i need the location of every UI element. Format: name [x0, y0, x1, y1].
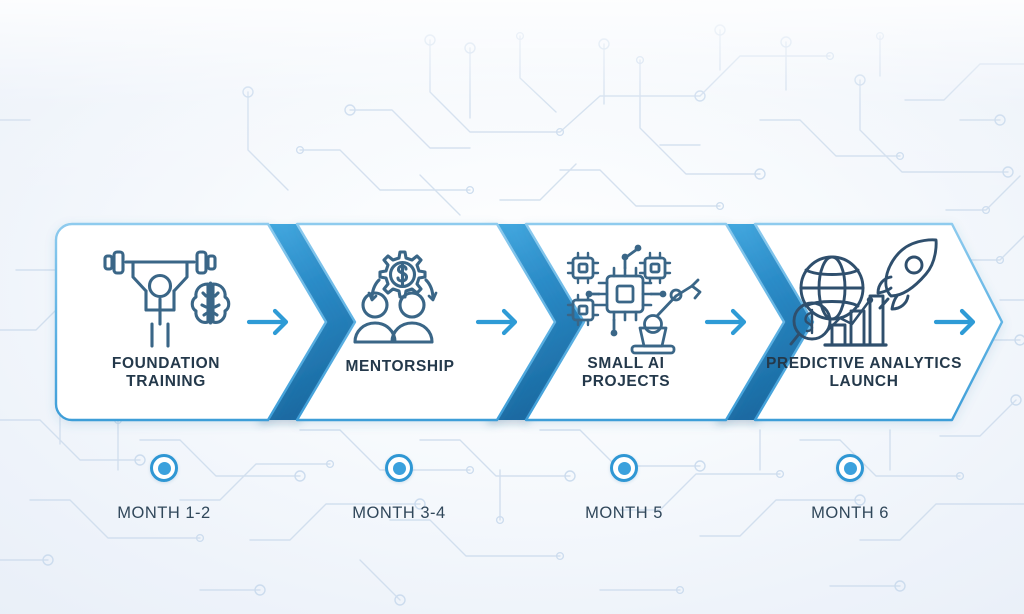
timeline-dot-core	[618, 462, 631, 475]
step-card-3-title: SMALL AI PROJECTS	[538, 355, 714, 392]
month-label-4: MONTH 6	[811, 504, 889, 523]
timeline-dot-core	[158, 462, 171, 475]
weightlifter-brain-icon	[105, 252, 229, 346]
forward-arrow-icon	[478, 311, 515, 333]
microchip-robot-arm-icon	[568, 245, 700, 353]
timeline-dot-core	[844, 462, 857, 475]
step-card-2[interactable]	[297, 224, 555, 420]
month-label-1: MONTH 1-2	[117, 504, 210, 523]
step-card-1-title: FOUNDATION TRAINING	[78, 355, 254, 392]
timeline-dot-3[interactable]	[610, 454, 638, 482]
step-card-4-title: PREDICTIVE ANALYTICS LAUNCH	[760, 355, 968, 392]
forward-arrow-icon	[249, 311, 286, 333]
gear-people-icon	[355, 252, 436, 342]
forward-arrow-icon	[707, 311, 744, 333]
month-label-3: MONTH 5	[585, 504, 663, 523]
chevron-connector-group	[254, 224, 812, 420]
timeline-dot-4[interactable]	[836, 454, 864, 482]
timeline-dot-2[interactable]	[385, 454, 413, 482]
month-label-2: MONTH 3-4	[352, 504, 445, 523]
infographic-canvas: FOUNDATION TRAINING MENTORSHIP SMALL AI …	[0, 0, 1024, 614]
step-card-2-title: MENTORSHIP	[312, 358, 488, 376]
globe-chart-rocket-icon	[791, 240, 936, 345]
chevron-connector	[254, 224, 354, 420]
forward-arrow-icon	[936, 311, 973, 333]
timeline-dot-core	[393, 462, 406, 475]
timeline-dot-1[interactable]	[150, 454, 178, 482]
